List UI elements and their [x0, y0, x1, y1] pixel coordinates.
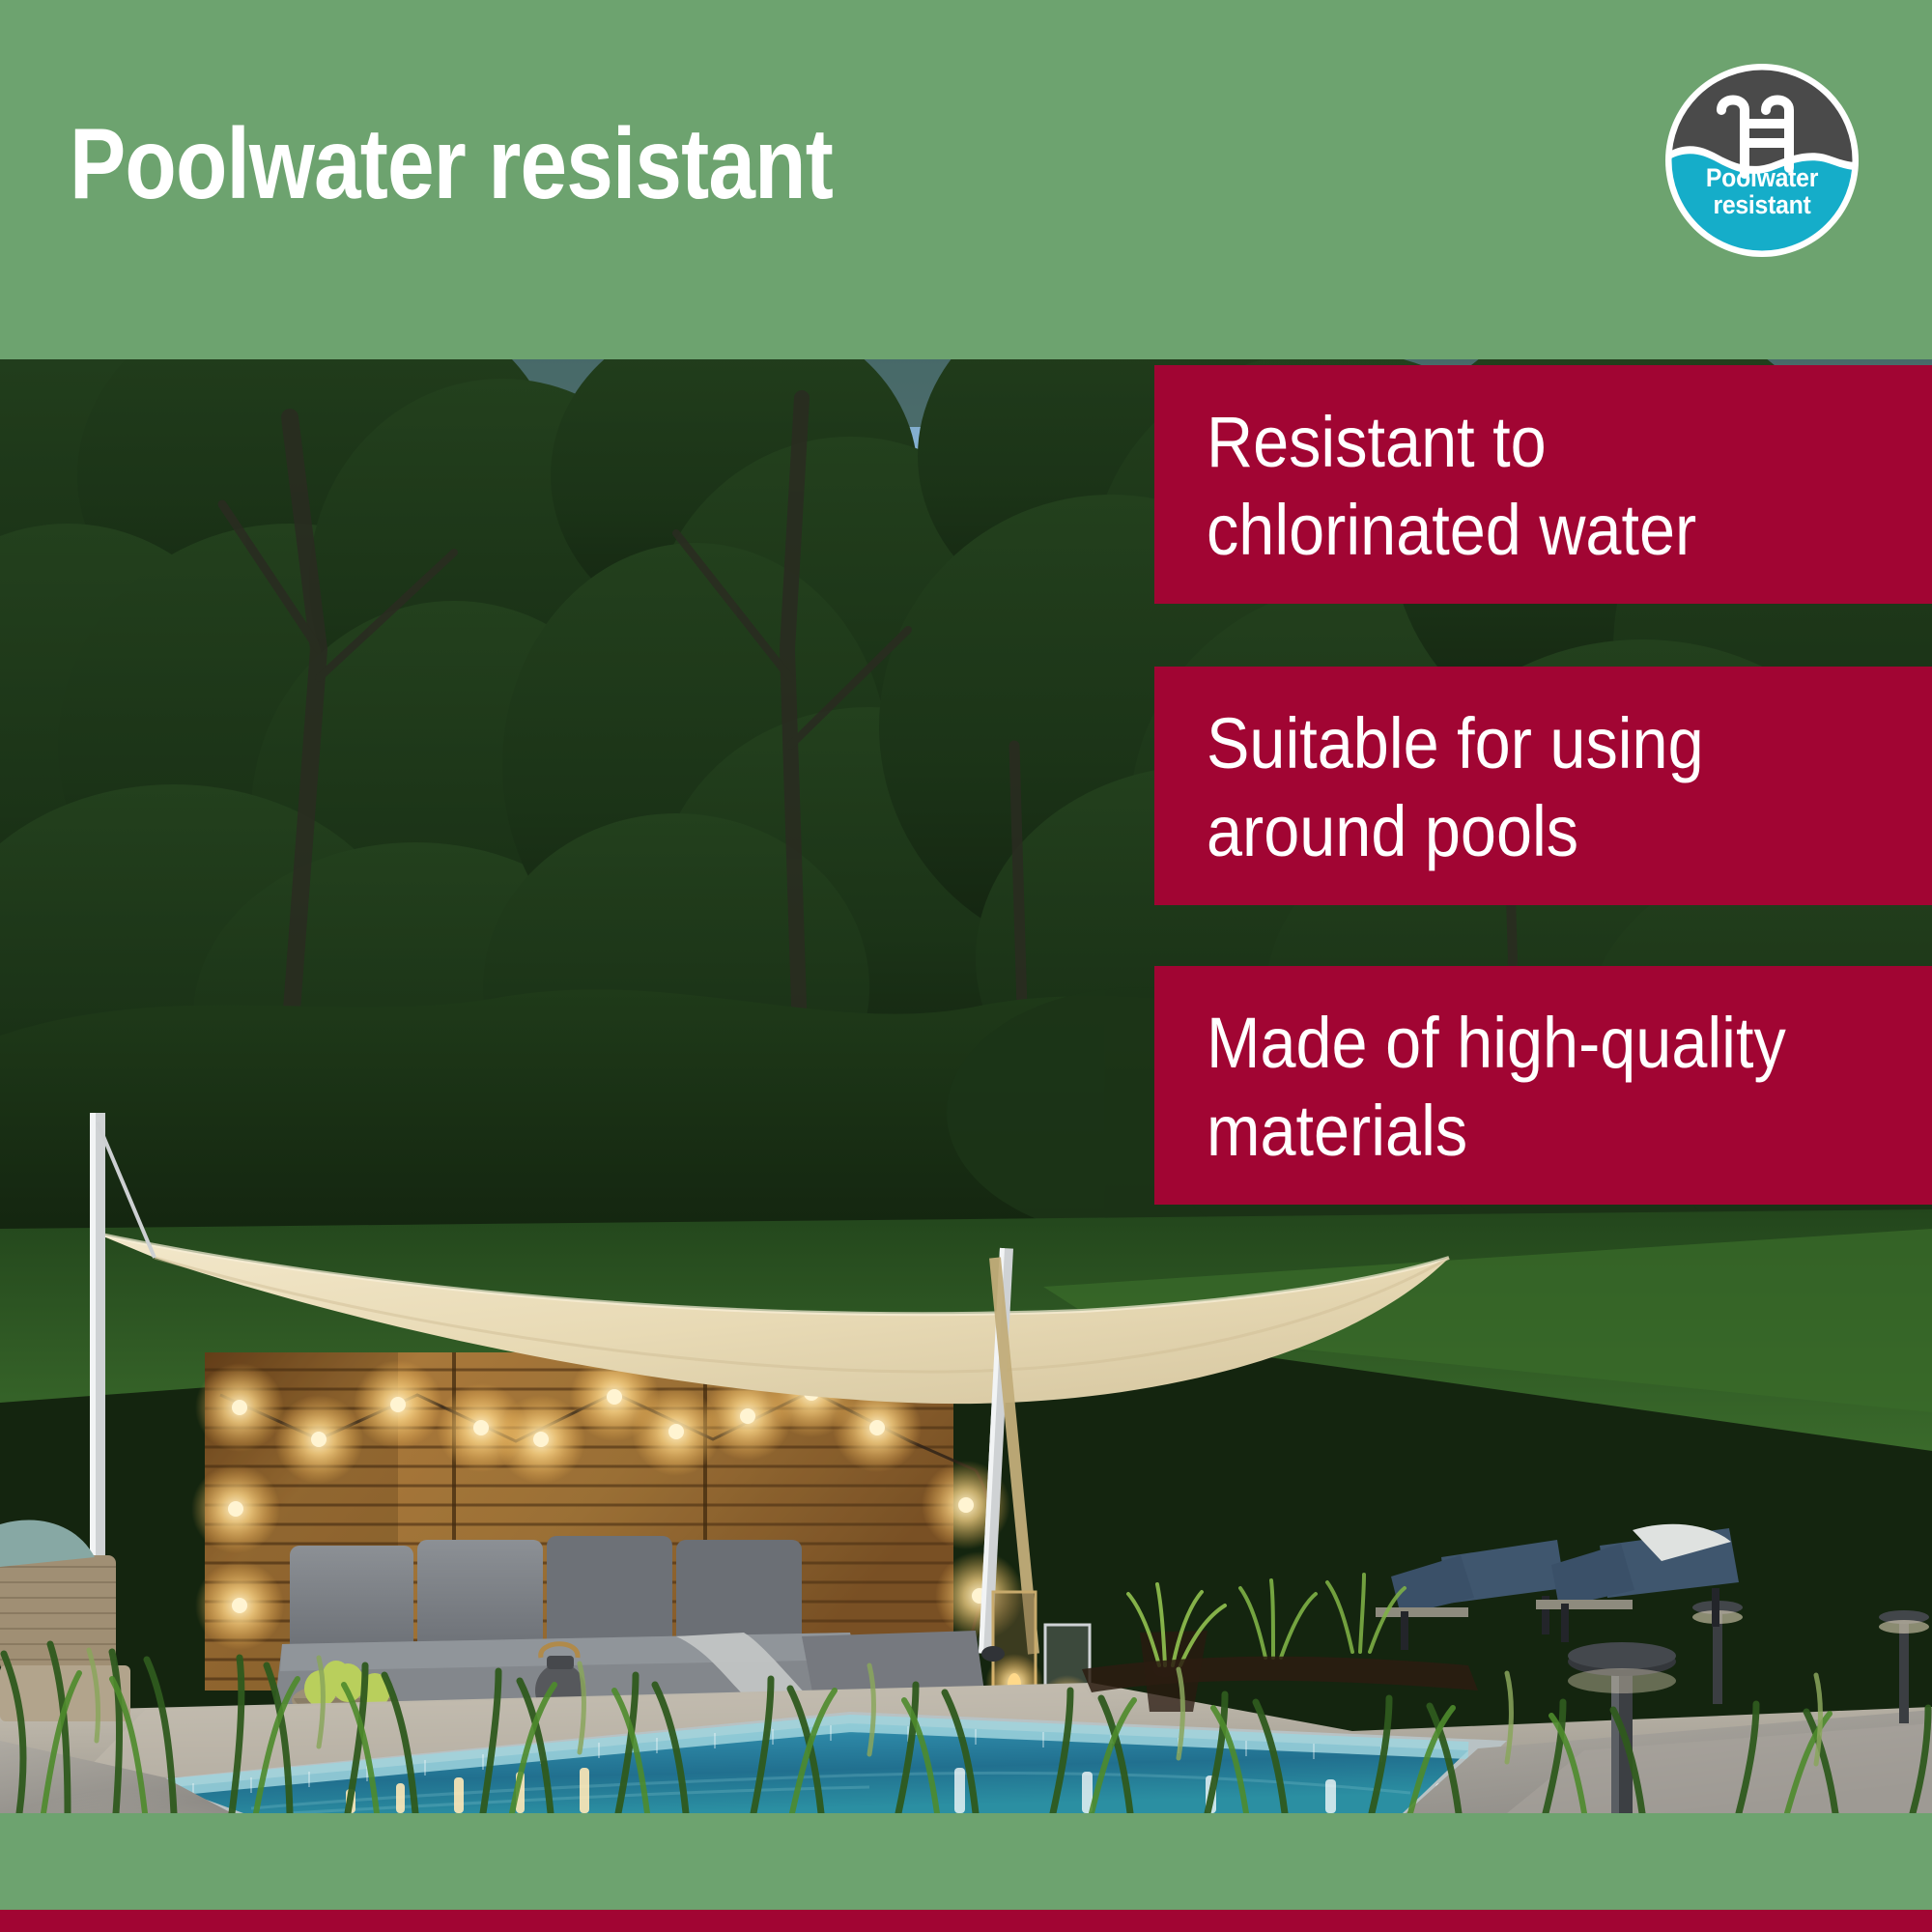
feature-line-1: Suitable for using — [1207, 699, 1821, 787]
feature-line-2: materials — [1207, 1087, 1821, 1175]
poolwater-resistant-badge: Poolwater resistant — [1662, 60, 1862, 261]
header-banner: Poolwater resistant — [0, 0, 1932, 359]
wicker-sofa — [0, 1520, 130, 1721]
feature-box-suitable-for-using-around-pools: Suitable for using around pools — [1154, 667, 1932, 905]
footer-green-band — [0, 1813, 1932, 1910]
footer-red-band — [0, 1910, 1932, 1932]
feature-box-made-of-high-quality-materials: Made of high-quality materials — [1154, 966, 1932, 1205]
badge-label: Poolwater resistant — [1669, 164, 1854, 219]
page-title: Poolwater resistant — [70, 114, 833, 214]
badge-label-line2: resistant — [1713, 190, 1810, 219]
feature-line-2: around pools — [1207, 787, 1821, 875]
badge-label-line1: Poolwater — [1706, 163, 1818, 192]
feature-line-1: Resistant to — [1207, 398, 1821, 486]
feature-box-resistant-to-chlorinated-water: Resistant to chlorinated water — [1154, 365, 1932, 604]
feature-line-1: Made of high-quality — [1207, 999, 1821, 1087]
poolwater-resistant-infographic: Poolwater resistant — [0, 0, 1932, 1932]
feature-line-2: chlorinated water — [1207, 486, 1821, 574]
sun-loungers — [1376, 1524, 1739, 1650]
